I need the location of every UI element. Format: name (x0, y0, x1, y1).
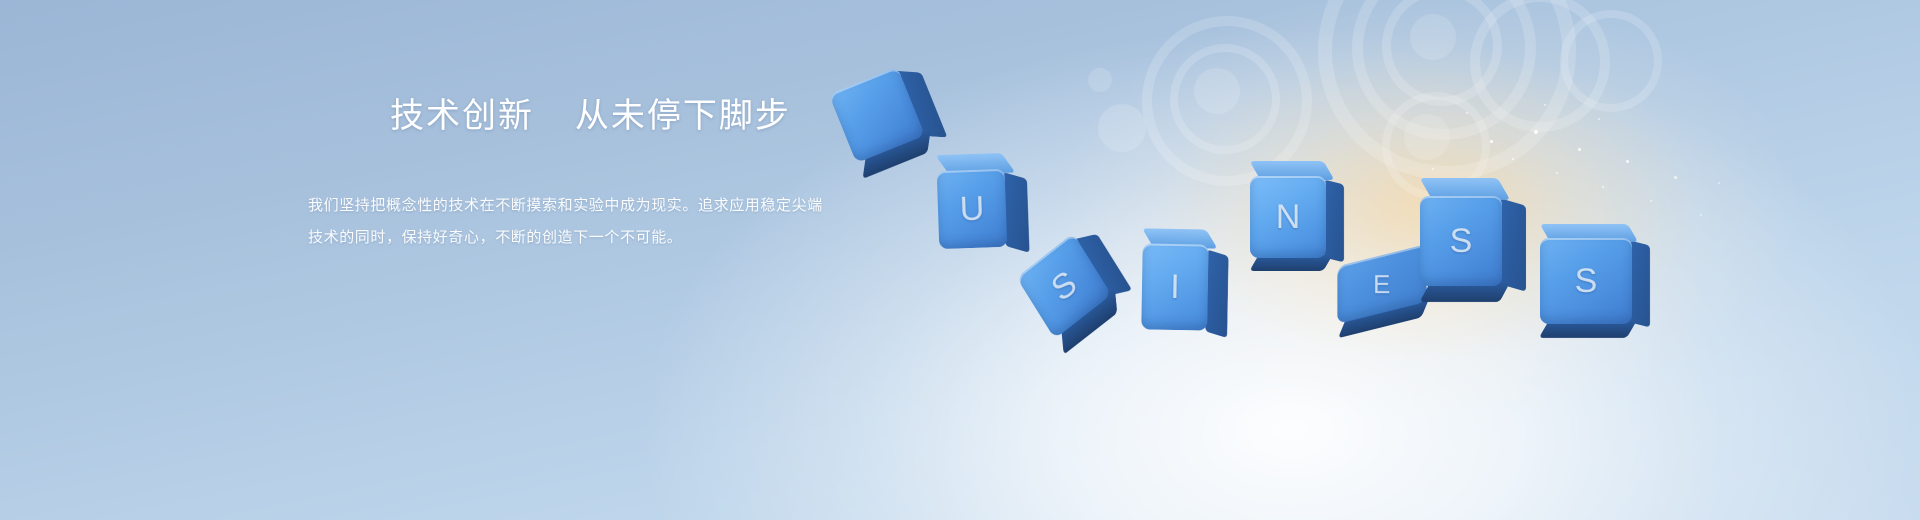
keycap-s-middle-side (1500, 198, 1526, 291)
keycap-s-right-face: S (1540, 238, 1632, 324)
keycap-i-face: I (1141, 243, 1208, 330)
keycap-e[interactable]: E (1337, 244, 1426, 324)
hero-banner: U S I N (0, 0, 1920, 520)
keycap-s-middle-glyph: S (1450, 222, 1473, 261)
keycap-n-side (1324, 180, 1344, 263)
keycap-i[interactable]: I (1141, 243, 1208, 330)
keycap-s-middle[interactable]: S (1420, 196, 1502, 286)
headline-part-2: 从未停下脚步 (575, 97, 791, 135)
hero-description: 我们坚持把概念性的技术在不断摸索和实验中成为现实。追求应用稳定尖端 技术的同时，… (308, 190, 1008, 254)
keycap-s-left[interactable]: S (1016, 233, 1111, 339)
hero-description-line-2: 技术的同时，保持好奇心，不断的创造下一个不可能。 (308, 222, 1008, 254)
keycap-group: U S I N (0, 0, 1920, 520)
keycap-s-left-glyph: S (1045, 262, 1084, 309)
keycap-n-face: N (1250, 176, 1326, 258)
keycap-s-right-side (1630, 241, 1650, 328)
keycap-s-right[interactable]: S (1540, 238, 1632, 324)
keycap-s-right-glyph: S (1575, 262, 1598, 301)
headline-part-1: 技术创新 (390, 97, 534, 135)
keycap-e-glyph: E (1373, 269, 1390, 300)
keycap-n-glyph: N (1276, 198, 1301, 237)
keycap-i-side (1205, 249, 1228, 338)
hero-copy: 技术创新 从未停下脚步 我们坚持把概念性的技术在不断摸索和实验中成为现实。追求应… (390, 95, 1010, 254)
page-title: 技术创新 从未停下脚步 (390, 95, 1010, 138)
keycap-s-middle-face: S (1420, 196, 1502, 286)
hero-description-line-1: 我们坚持把概念性的技术在不断摸索和实验中成为现实。追求应用稳定尖端 (308, 190, 1008, 222)
keycap-n[interactable]: N (1250, 176, 1326, 258)
keycap-i-glyph: I (1170, 267, 1180, 306)
